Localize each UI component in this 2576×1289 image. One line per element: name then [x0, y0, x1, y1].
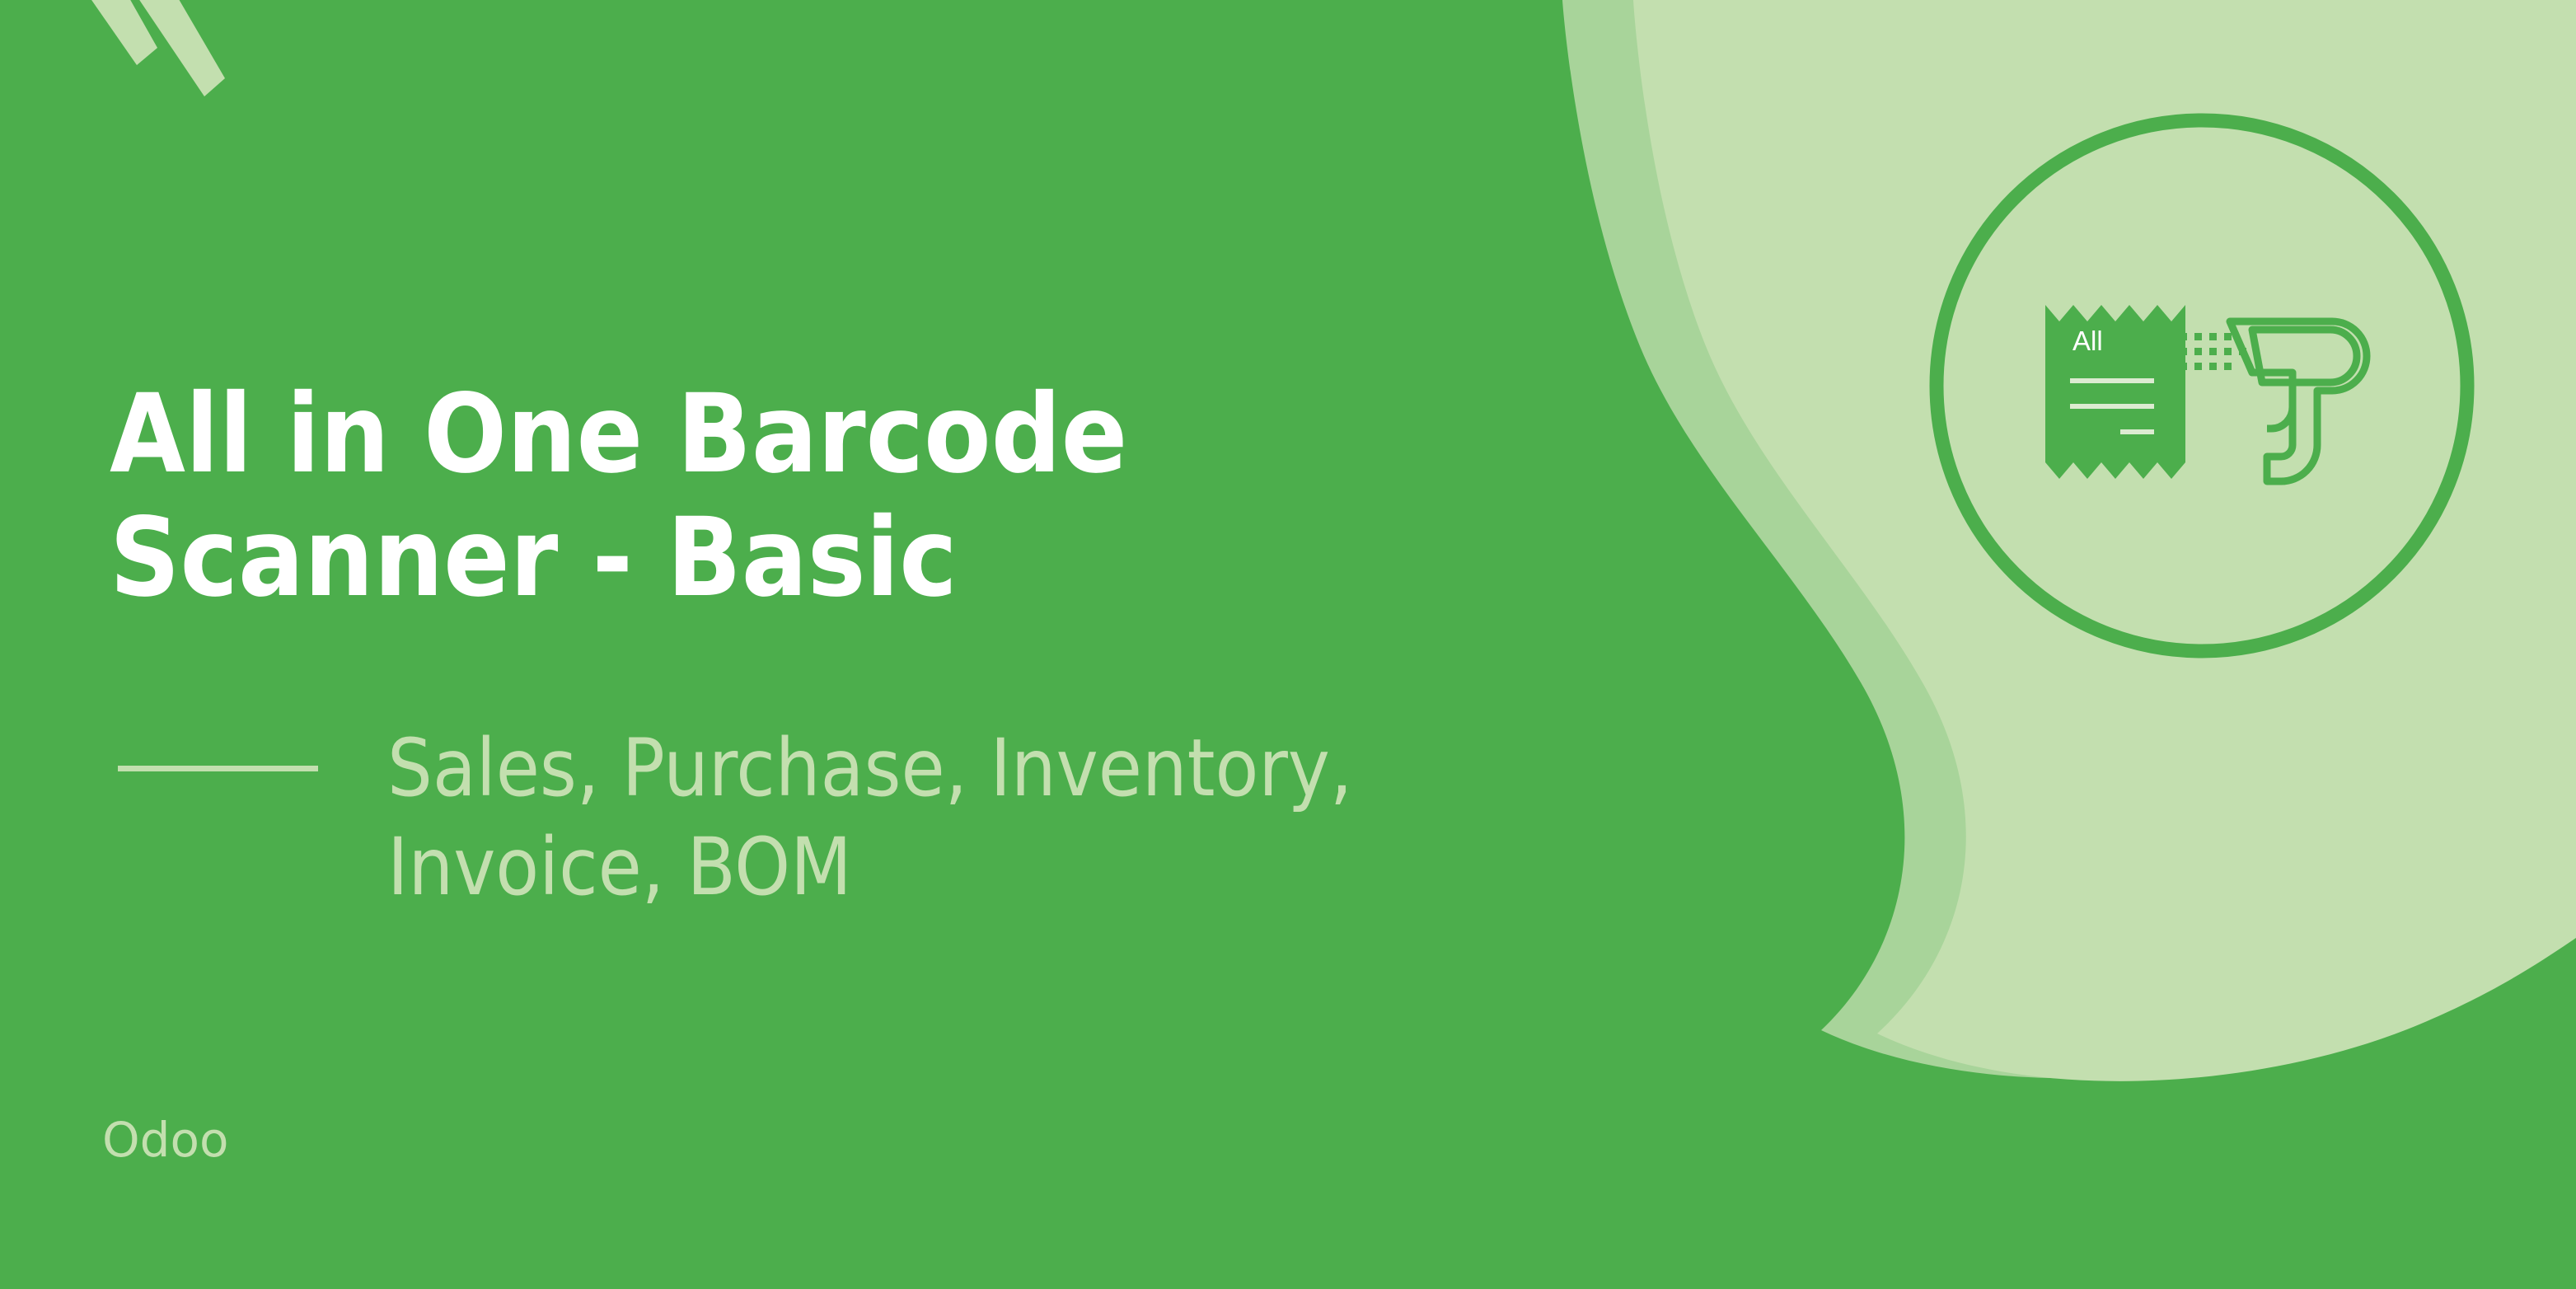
page-subtitle: Sales, Purchase, Inventory, Invoice, BOM [387, 719, 1459, 916]
title-rule-divider [118, 766, 318, 771]
brand-label: Odoo [102, 1116, 228, 1164]
banner-text-layer: All in One Barcode Scanner - Basic Sales… [0, 0, 2576, 1289]
page-title: All in One Barcode Scanner - Basic [110, 373, 1395, 621]
odoo-app-banner: All [0, 0, 2576, 1289]
